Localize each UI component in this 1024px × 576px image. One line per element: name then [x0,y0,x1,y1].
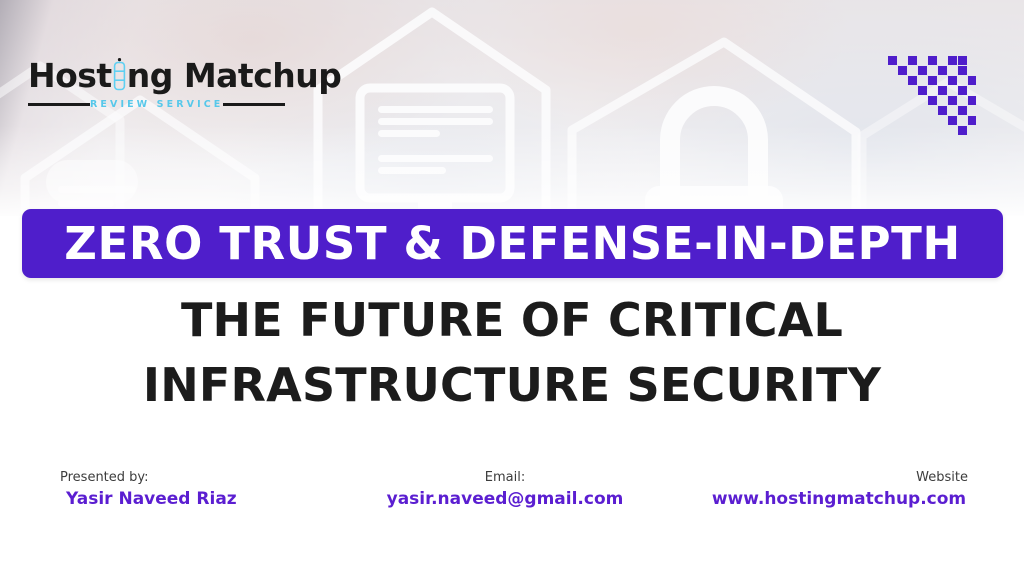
title-banner: ZERO TRUST & DEFENSE-IN-DEPTH [22,209,1003,278]
logo-tagline: REVIEW SERVICE [90,99,223,110]
presenter-label: Presented by: [60,470,237,486]
title-banner-text: ZERO TRUST & DEFENSE-IN-DEPTH [64,217,960,270]
subtitle-block: THE FUTURE OF CRITICAL INFRASTRUCTURE SE… [0,288,1024,419]
footer-email: Email: yasir.naveed@gmail.com [386,470,624,510]
subtitle-line-2: INFRASTRUCTURE SECURITY [0,353,1024,418]
logo-word-part2: ng Matchup [127,59,342,92]
email-label: Email: [386,470,624,486]
logo-rule-right [223,103,285,106]
footer-website: Website www.hostingmatchup.com [710,470,968,510]
logo-tagline-row: REVIEW SERVICE [28,99,280,110]
email-address[interactable]: yasir.naveed@gmail.com [386,488,624,510]
footer: Presented by: Yasir Naveed Riaz Email: y… [0,470,1024,530]
footer-presenter: Presented by: Yasir Naveed Riaz [60,470,237,510]
logo-word-part1: Host [28,59,112,92]
subtitle-line-1: THE FUTURE OF CRITICAL [0,288,1024,353]
presenter-name: Yasir Naveed Riaz [60,488,237,510]
logo-wordmark: Host ng Matchup [28,58,288,92]
brand-logo: Host ng Matchup REVIEW SERVICE [28,58,288,110]
logo-rule-left [28,103,90,106]
website-url[interactable]: www.hostingmatchup.com [710,488,968,510]
server-rack-icon [113,58,126,92]
website-label: Website [710,470,968,486]
checkered-triangle-decoration [888,56,976,138]
title-slide: Host ng Matchup REVIEW SERVICE [0,0,1024,576]
